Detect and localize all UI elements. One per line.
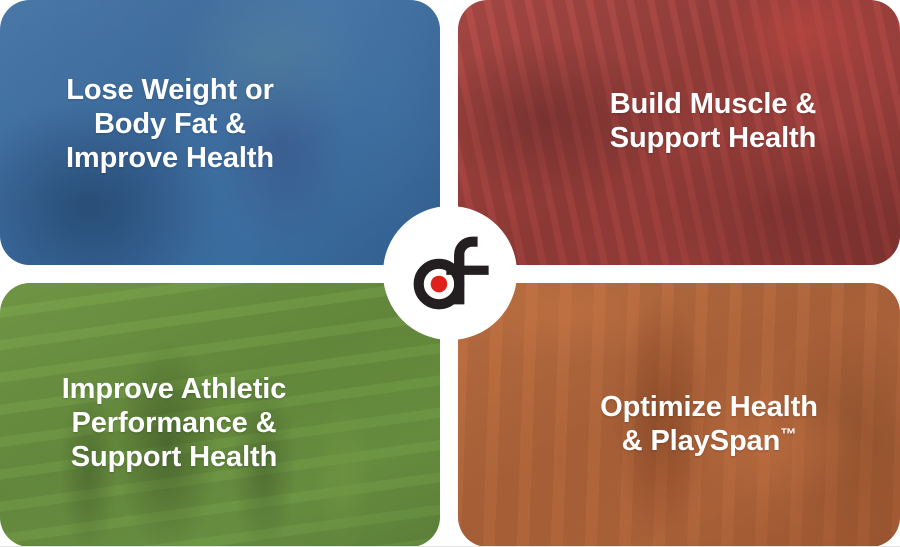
card-label-optimize-health: Optimize Health & PlaySpan™ — [458, 391, 900, 459]
quadrant-goal-selector: Lose Weight or Body Fat & Improve Health… — [0, 0, 900, 547]
logo-badge — [383, 206, 517, 340]
card-label-athletic-performance: Improve Athletic Performance & Support H… — [0, 373, 440, 475]
trademark-symbol: ™ — [780, 425, 796, 443]
card-build-muscle[interactable]: Build Muscle & Support Health — [458, 0, 900, 265]
card-athletic-performance[interactable]: Improve Athletic Performance & Support H… — [0, 283, 440, 547]
card-label-lose-weight: Lose Weight or Body Fat & Improve Health — [0, 74, 440, 176]
df-monogram-logo — [404, 227, 496, 319]
logo-dot — [431, 276, 448, 293]
card-label-build-muscle: Build Muscle & Support Health — [458, 88, 900, 156]
card-optimize-health[interactable]: Optimize Health & PlaySpan™ — [458, 283, 900, 547]
card-lose-weight[interactable]: Lose Weight or Body Fat & Improve Health — [0, 0, 440, 265]
